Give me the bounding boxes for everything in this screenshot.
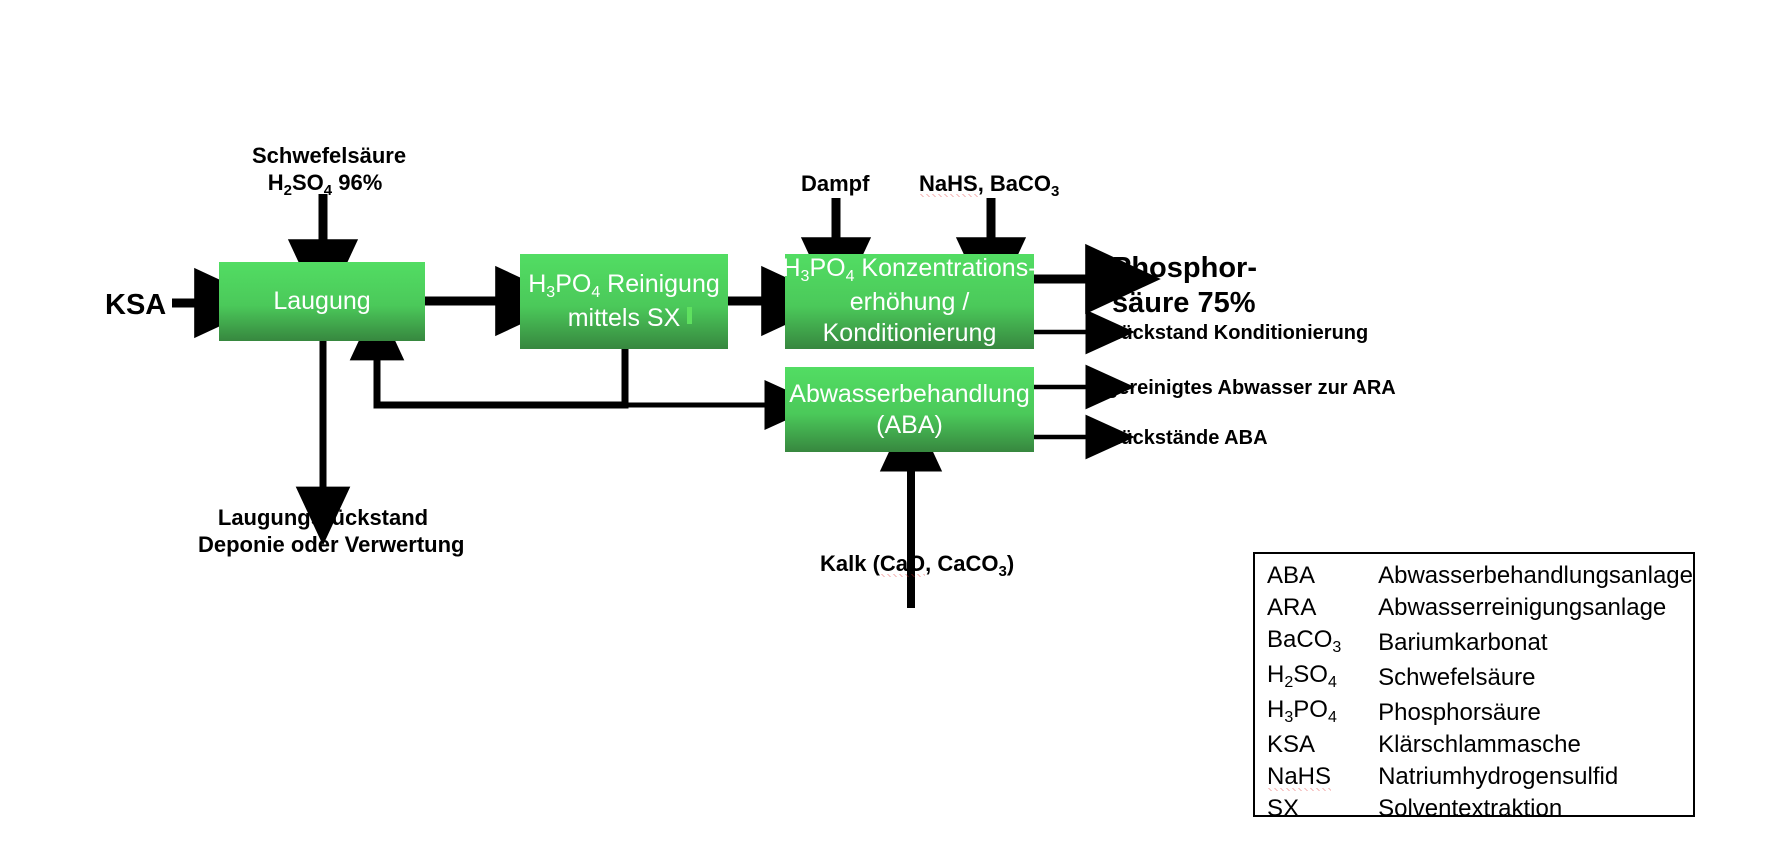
legend-row: BaCO3 Bariumkarbonat bbox=[1267, 624, 1693, 659]
diagram-canvas: Laugung H3PO4 Reinigung mittels SX H3PO4… bbox=[0, 0, 1779, 862]
label-laugungsrueckstand: Laugungsrückstand Deponie oder Verwertun… bbox=[198, 504, 448, 558]
legend-row: H3PO4 Phosphorsäure bbox=[1267, 694, 1693, 729]
label-ksa: KSA bbox=[105, 288, 166, 323]
legend-term: Abwasserbehandlungsanlage bbox=[1378, 560, 1693, 592]
legend-row: KSA Klärschlammasche bbox=[1267, 729, 1693, 761]
legend-term: Bariumkarbonat bbox=[1378, 624, 1693, 659]
legend-abbr: SX bbox=[1267, 793, 1378, 825]
aba-label-line1: Abwasserbehandlung bbox=[789, 379, 1029, 410]
legend-row: NaHS Natriumhydrogensulfid bbox=[1267, 761, 1693, 793]
legend-abbr: ARA bbox=[1267, 592, 1378, 624]
process-box-konzentrierung-label: H3PO4 Konzentrations- erhöhung / Konditi… bbox=[785, 252, 1034, 349]
process-box-aba-label: Abwasserbehandlung (ABA) bbox=[785, 367, 1034, 452]
label-nahs: NaHS bbox=[919, 171, 978, 197]
legend-row: H2SO4 Schwefelsäure bbox=[1267, 659, 1693, 694]
konz-label-line3: Konditionierung bbox=[823, 318, 997, 349]
legend-box: ABA Abwasserbehandlungsanlage ARA Abwass… bbox=[1253, 552, 1695, 817]
label-nahs-baco3: NaHS, BaCO3 bbox=[919, 170, 1059, 200]
label-schwefelsaeure-formula: H2SO4 96% bbox=[252, 169, 398, 199]
legend-abbr: BaCO3 bbox=[1267, 624, 1378, 659]
legend-abbr: KSA bbox=[1267, 729, 1378, 761]
process-box-reinigung-label: H3PO4 Reinigung mittels SX bbox=[520, 254, 728, 349]
label-kalk: Kalk (CaO, CaCO3) bbox=[820, 550, 1014, 580]
legend-term: Abwasserreinigungsanlage bbox=[1378, 592, 1693, 624]
label-phosphorsaeure-product: Phosphor- säure 75% bbox=[1112, 251, 1257, 321]
reinigung-label-line2: mittels SX bbox=[568, 303, 681, 334]
label-kalk-cao: CaO bbox=[880, 551, 925, 577]
process-box-laugung-label: Laugung bbox=[219, 262, 425, 341]
legend-term: Phosphorsäure bbox=[1378, 694, 1693, 729]
label-schwefelsaeure-line1: Schwefelsäure bbox=[252, 142, 398, 169]
legend-term: Natriumhydrogensulfid bbox=[1378, 761, 1693, 793]
legend-abbr: NaHS bbox=[1267, 761, 1378, 793]
legend-row: SX Solventextraktion bbox=[1267, 793, 1693, 825]
label-gereinigtes-abwasser: gereinigtes Abwasser zur ARA bbox=[1106, 375, 1396, 402]
label-phosphorsaeure-line1: Phosphor- bbox=[1112, 251, 1257, 286]
label-rueckstaende-aba: Rückstände ABA bbox=[1106, 425, 1268, 452]
konz-label-line2: erhöhung / bbox=[850, 287, 970, 318]
aba-label-line2: (ABA) bbox=[876, 410, 943, 441]
arrow-recycle-sx-to-laugung bbox=[377, 349, 625, 405]
legend-term: Solventextraktion bbox=[1378, 793, 1693, 825]
konz-label-line1: H3PO4 Konzentrations- bbox=[782, 253, 1036, 287]
label-schwefelsaeure: Schwefelsäure H2SO4 96% bbox=[252, 142, 398, 199]
legend-rows: ABA Abwasserbehandlungsanlage ARA Abwass… bbox=[1267, 560, 1693, 825]
reinigung-label-line1: H3PO4 Reinigung bbox=[528, 269, 720, 303]
legend-abbr: H2SO4 bbox=[1267, 659, 1378, 694]
legend-term: Schwefelsäure bbox=[1378, 659, 1693, 694]
legend-abbr: H3PO4 bbox=[1267, 694, 1378, 729]
label-rueckstand-konditionierung: Rückstand Konditionierung bbox=[1106, 320, 1368, 347]
legend-row: ARA Abwasserreinigungsanlage bbox=[1267, 592, 1693, 624]
label-laugungsrueckstand-line2: Deponie oder Verwertung bbox=[198, 531, 448, 558]
legend-table: ABA Abwasserbehandlungsanlage ARA Abwass… bbox=[1267, 560, 1693, 825]
label-laugungsrueckstand-line1: Laugungsrückstand bbox=[198, 504, 448, 531]
legend-abbr: ABA bbox=[1267, 560, 1378, 592]
label-dampf: Dampf bbox=[801, 170, 869, 197]
legend-term: Klärschlammasche bbox=[1378, 729, 1693, 761]
label-phosphorsaeure-line2: säure 75% bbox=[1112, 286, 1257, 321]
legend-row: ABA Abwasserbehandlungsanlage bbox=[1267, 560, 1693, 592]
text-cursor-artifact bbox=[687, 307, 692, 324]
